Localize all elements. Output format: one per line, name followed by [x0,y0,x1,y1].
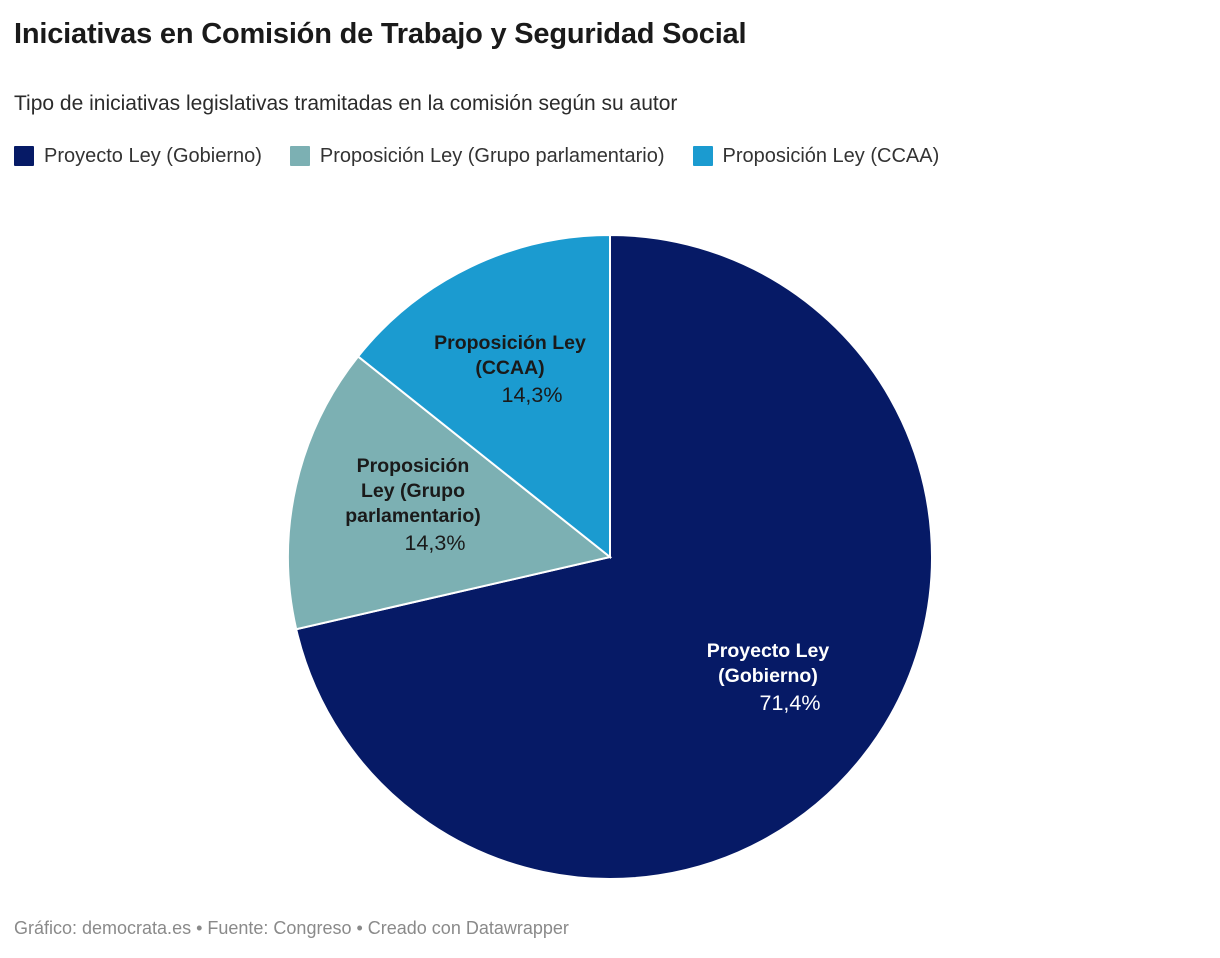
pie-slice-value: 71,4% [760,691,821,715]
legend-item[interactable]: Proposición Ley (Grupo parlamentario) [290,145,665,167]
legend-item-label: Proposición Ley (Grupo parlamentario) [320,145,665,167]
legend-item[interactable]: Proposición Ley (CCAA) [693,145,940,167]
pie-slice-value: 14,3% [502,383,563,407]
pie-slice-label: Proposición Ley [434,332,586,354]
pie-slice-label: parlamentario) [345,505,480,527]
legend-item[interactable]: Proyecto Ley (Gobierno) [14,145,262,167]
page-title: Iniciativas en Comisión de Trabajo y Seg… [14,16,1194,52]
pie-chart-svg: Proyecto Ley(Gobierno)71,4%ProposiciónLe… [0,200,1220,900]
legend-item-label: Proyecto Ley (Gobierno) [44,145,262,167]
legend-color-swatch [14,146,34,166]
pie-slice-label: (CCAA) [475,357,544,379]
legend-color-swatch [290,146,310,166]
legend-color-swatch [693,146,713,166]
pie-slice-label: Proyecto Ley [707,640,830,662]
chart-subtitle: Tipo de iniciativas legislativas tramita… [14,90,1194,118]
legend-item-label: Proposición Ley (CCAA) [723,145,940,167]
pie-slice-label: Ley (Grupo [361,480,465,502]
chart-legend: Proyecto Ley (Gobierno)Proposición Ley (… [14,145,967,167]
pie-slice-value: 14,3% [405,531,466,555]
pie-plot-area: Proyecto Ley(Gobierno)71,4%ProposiciónLe… [0,200,1220,900]
chart-footer-credit: Gráfico: democrata.es • Fuente: Congreso… [14,916,569,940]
pie-chart-figure: Iniciativas en Comisión de Trabajo y Seg… [0,0,1220,958]
pie-slice-label: (Gobierno) [718,665,818,687]
pie-slice-label: Proposición [357,455,470,477]
